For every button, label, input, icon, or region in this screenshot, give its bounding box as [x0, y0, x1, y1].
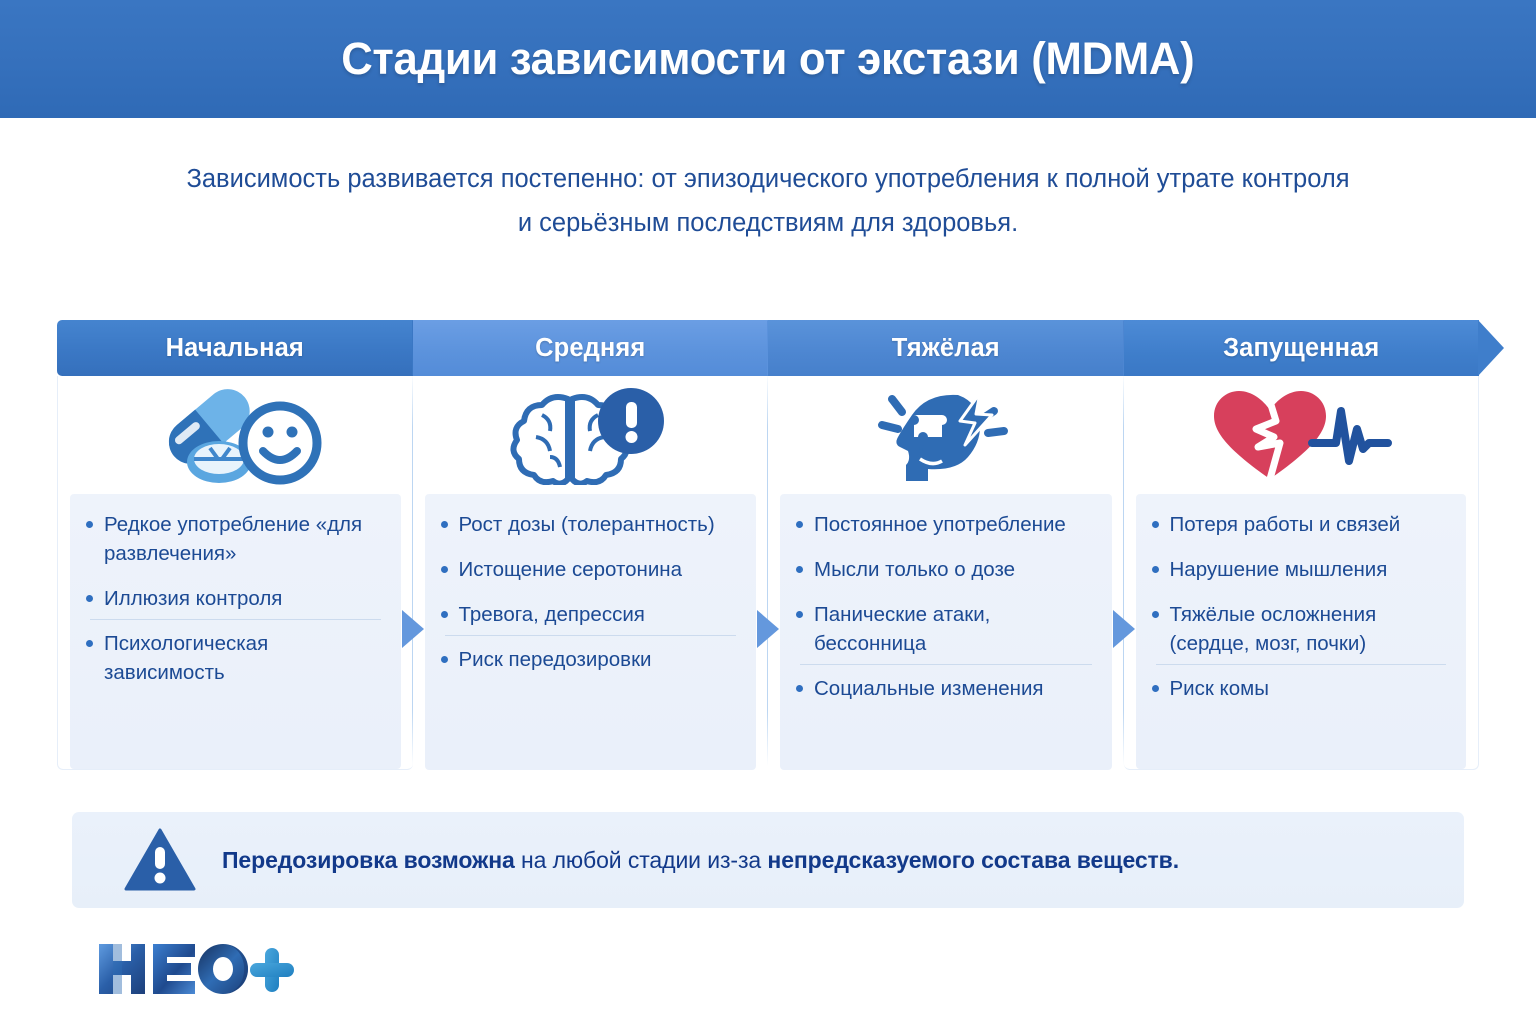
- pills-smiley-icon: [70, 376, 401, 494]
- bullet-panel-1: Редкое употребление «для развлечения» Ил…: [70, 494, 401, 769]
- stage-body-1: Редкое употребление «для развлечения» Ил…: [57, 376, 413, 770]
- header-banner: Стадии зависимости от экстази (MDMA): [0, 0, 1536, 118]
- list-item: Тяжёлые осложнения (сердце, мозг, почки): [1144, 600, 1463, 658]
- stage-label-2: Средняя: [535, 334, 645, 363]
- list-item: Нарушение мышления: [1144, 555, 1463, 584]
- bullet-list-2: Рост дозы (толерантность) Истощение серо…: [433, 510, 753, 674]
- brain-alert-icon: [425, 376, 757, 494]
- connector-arrow-icon: [400, 608, 426, 650]
- list-item: Мысли только о дозе: [788, 555, 1108, 584]
- stage-header-4: Запущенная: [1124, 320, 1480, 376]
- stage-label-3: Тяжёлая: [892, 334, 1000, 363]
- head-puzzle-lightning-icon: [780, 376, 1112, 494]
- list-item: Истощение серотонина: [433, 555, 753, 584]
- warning-bold-end: непредсказуемого состава веществ.: [767, 847, 1179, 873]
- stage-body-2: Рост дозы (толерантность) Истощение серо…: [413, 376, 769, 770]
- stage-header-3: Тяжёлая: [768, 320, 1124, 376]
- list-item: Иллюзия контроля: [78, 584, 397, 613]
- stage-card-2[interactable]: Средняя: [413, 320, 769, 770]
- list-item: Социальные изменения: [788, 674, 1108, 703]
- warning-regular-middle: на любой стадии из-за: [515, 847, 768, 873]
- stage-body-4: Потеря работы и связей Нарушение мышлени…: [1124, 376, 1480, 770]
- page-title: Стадии зависимости от экстази (MDMA): [341, 33, 1194, 85]
- chevron-right-icon: [1478, 320, 1506, 376]
- stage-card-4[interactable]: Запущенная Потеря работы и связей Наруше…: [1124, 320, 1480, 770]
- logo[interactable]: [95, 938, 295, 1000]
- stage-label-4: Запущенная: [1223, 334, 1379, 363]
- bullet-panel-3: Постоянное употребление Мысли только о д…: [780, 494, 1112, 770]
- warning-triangle-icon: [124, 828, 196, 892]
- list-item: Постоянное употребление: [788, 510, 1108, 539]
- bullet-panel-2: Рост дозы (толерантность) Истощение серо…: [425, 494, 757, 770]
- bullet-list-1: Редкое употребление «для развлечения» Ил…: [78, 510, 397, 688]
- stages-container: Начальная: [57, 320, 1479, 770]
- bullet-list-3: Постоянное употребление Мысли только о д…: [788, 510, 1108, 704]
- bullet-panel-4: Потеря работы и связей Нарушение мышлени…: [1136, 494, 1467, 769]
- stage-header-1: Начальная: [57, 320, 413, 376]
- warning-bold-start: Передозировка возможна: [222, 847, 515, 873]
- broken-heart-ecg-icon: [1136, 376, 1467, 494]
- stage-body-3: Постоянное употребление Мысли только о д…: [768, 376, 1124, 770]
- list-item: Панические атаки, бессонница: [788, 600, 1108, 658]
- list-item: Риск передозировки: [433, 645, 753, 674]
- warning-banner: Передозировка возможна на любой стадии и…: [72, 812, 1464, 908]
- warning-text: Передозировка возможна на любой стадии и…: [222, 847, 1179, 874]
- stage-label-1: Начальная: [166, 334, 304, 363]
- bullet-list-4: Потеря работы и связей Нарушение мышлени…: [1144, 510, 1463, 704]
- list-item: Риск комы: [1144, 674, 1463, 703]
- subtitle-text: Зависимость развивается постепенно: от э…: [178, 158, 1358, 246]
- connector-arrow-icon: [1111, 608, 1137, 650]
- connector-arrow-icon: [755, 608, 781, 650]
- list-item: Потеря работы и связей: [1144, 510, 1463, 539]
- stage-header-2: Средняя: [413, 320, 769, 376]
- list-item: Редкое употребление «для развлечения»: [78, 510, 397, 568]
- list-item: Психологическая зависимость: [78, 629, 397, 687]
- stage-card-3[interactable]: Тяжёлая: [768, 320, 1124, 770]
- stage-card-1[interactable]: Начальная: [57, 320, 413, 770]
- list-item: Рост дозы (толерантность): [433, 510, 753, 539]
- list-item: Тревога, депрессия: [433, 600, 753, 629]
